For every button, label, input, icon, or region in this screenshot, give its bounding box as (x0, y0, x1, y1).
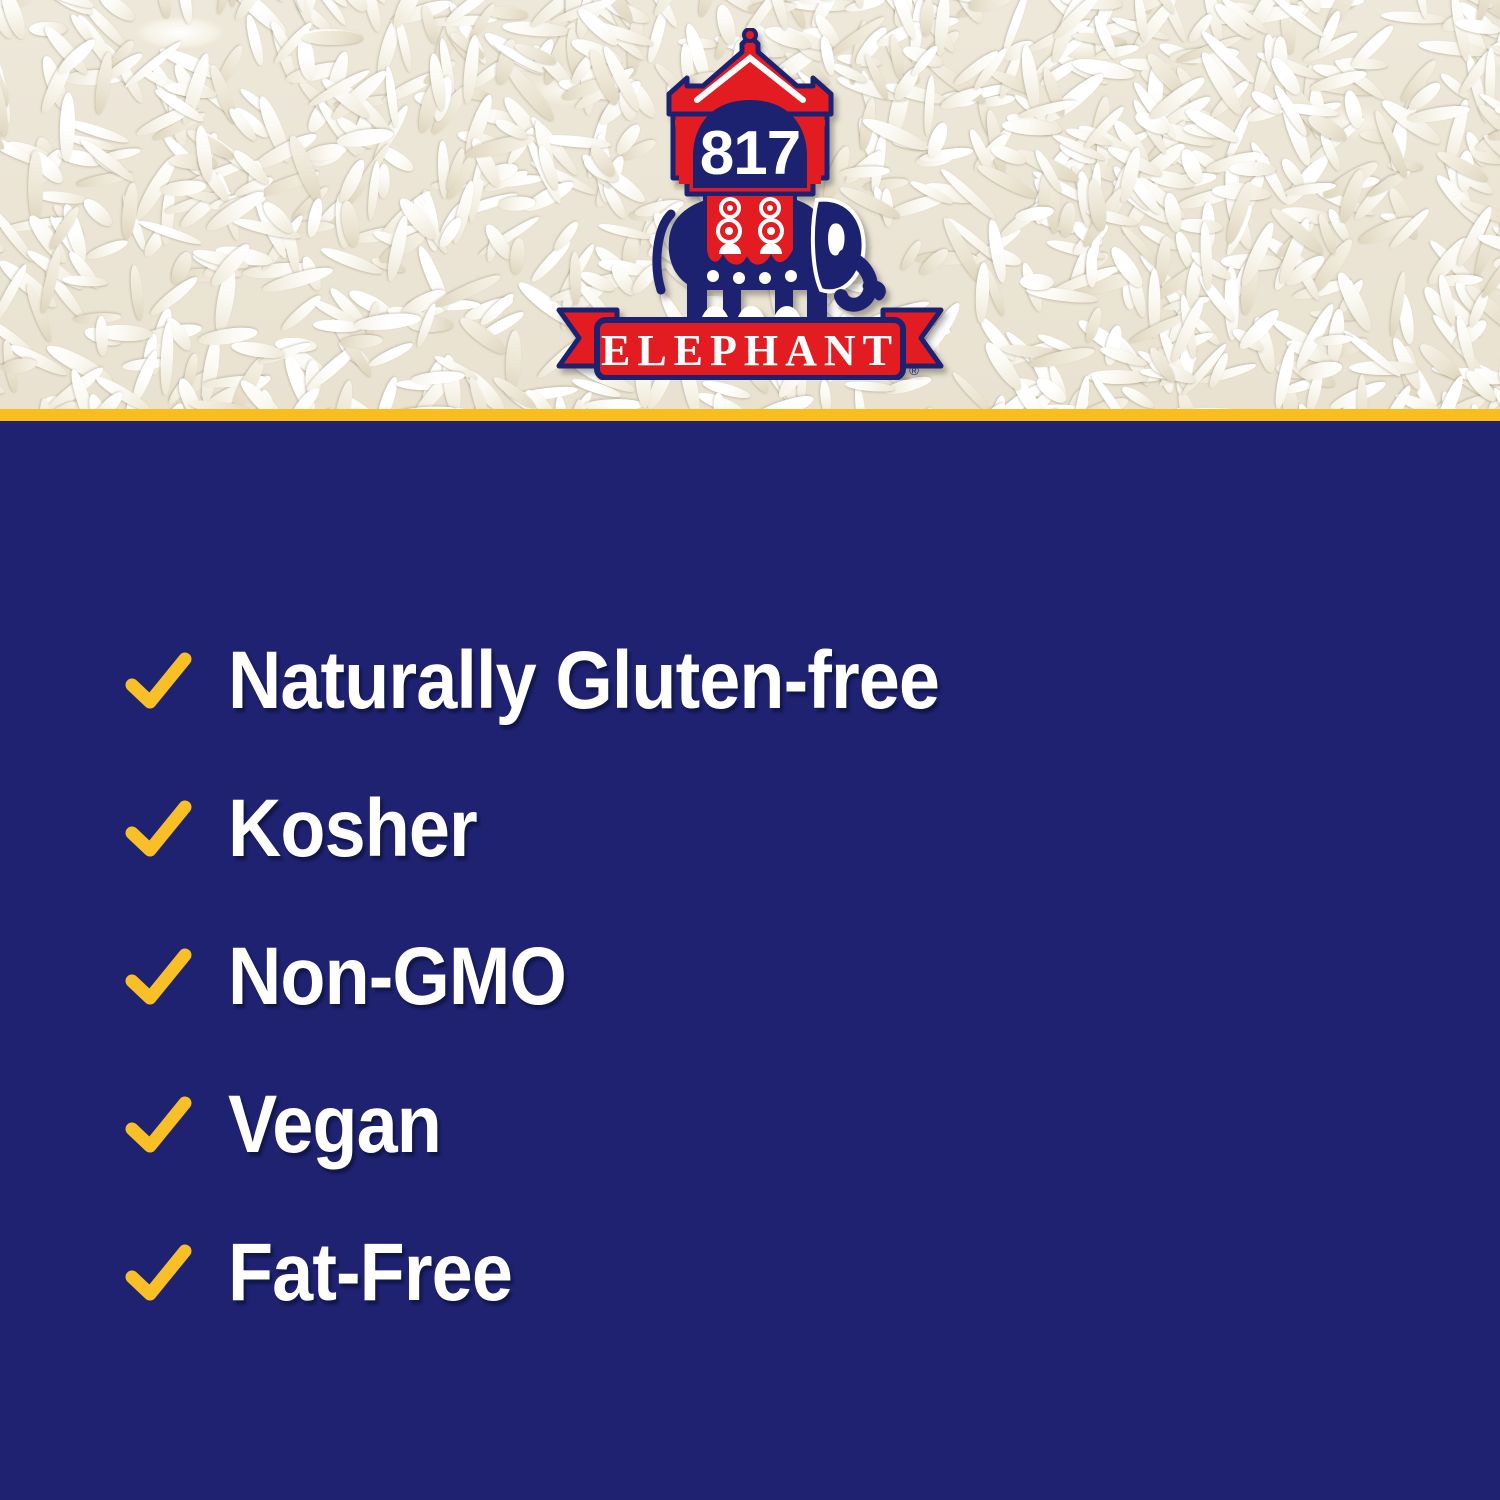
claim-label: Kosher (228, 788, 477, 870)
claim-label: Fat-Free (228, 1232, 512, 1314)
claim-item: Kosher (124, 755, 1424, 903)
claims-panel: Naturally Gluten-freeKosherNon-GMOVeganF… (0, 421, 1500, 1500)
logo-number: 817 (700, 119, 800, 188)
elephant-tail (657, 214, 671, 290)
claim-item: Fat-Free (124, 1199, 1424, 1347)
elephant-817-logo: 817 (545, 28, 955, 380)
trademark-symbol: ® (909, 363, 919, 378)
check-icon (124, 647, 192, 715)
claim-item: Non-GMO (124, 903, 1424, 1051)
claim-label: Non-GMO (228, 936, 566, 1018)
claim-label: Naturally Gluten-free (228, 640, 939, 722)
hero-rice-image: 817 (0, 0, 1500, 409)
check-icon (124, 1091, 192, 1159)
check-icon (124, 943, 192, 1011)
logo-brand-name: ELEPHANT (601, 326, 899, 375)
claims-list: Naturally Gluten-freeKosherNon-GMOVeganF… (124, 607, 1424, 1347)
claim-label: Vegan (228, 1084, 441, 1166)
check-icon (124, 795, 192, 863)
claim-item: Naturally Gluten-free (124, 607, 1424, 755)
check-icon (124, 1239, 192, 1307)
claim-item: Vegan (124, 1051, 1424, 1199)
pilaster-left (679, 124, 693, 184)
roof-finial (744, 29, 756, 41)
pilaster-right (807, 124, 821, 184)
product-feature-card: 817 (0, 0, 1500, 1500)
yellow-divider-rule (0, 409, 1500, 421)
